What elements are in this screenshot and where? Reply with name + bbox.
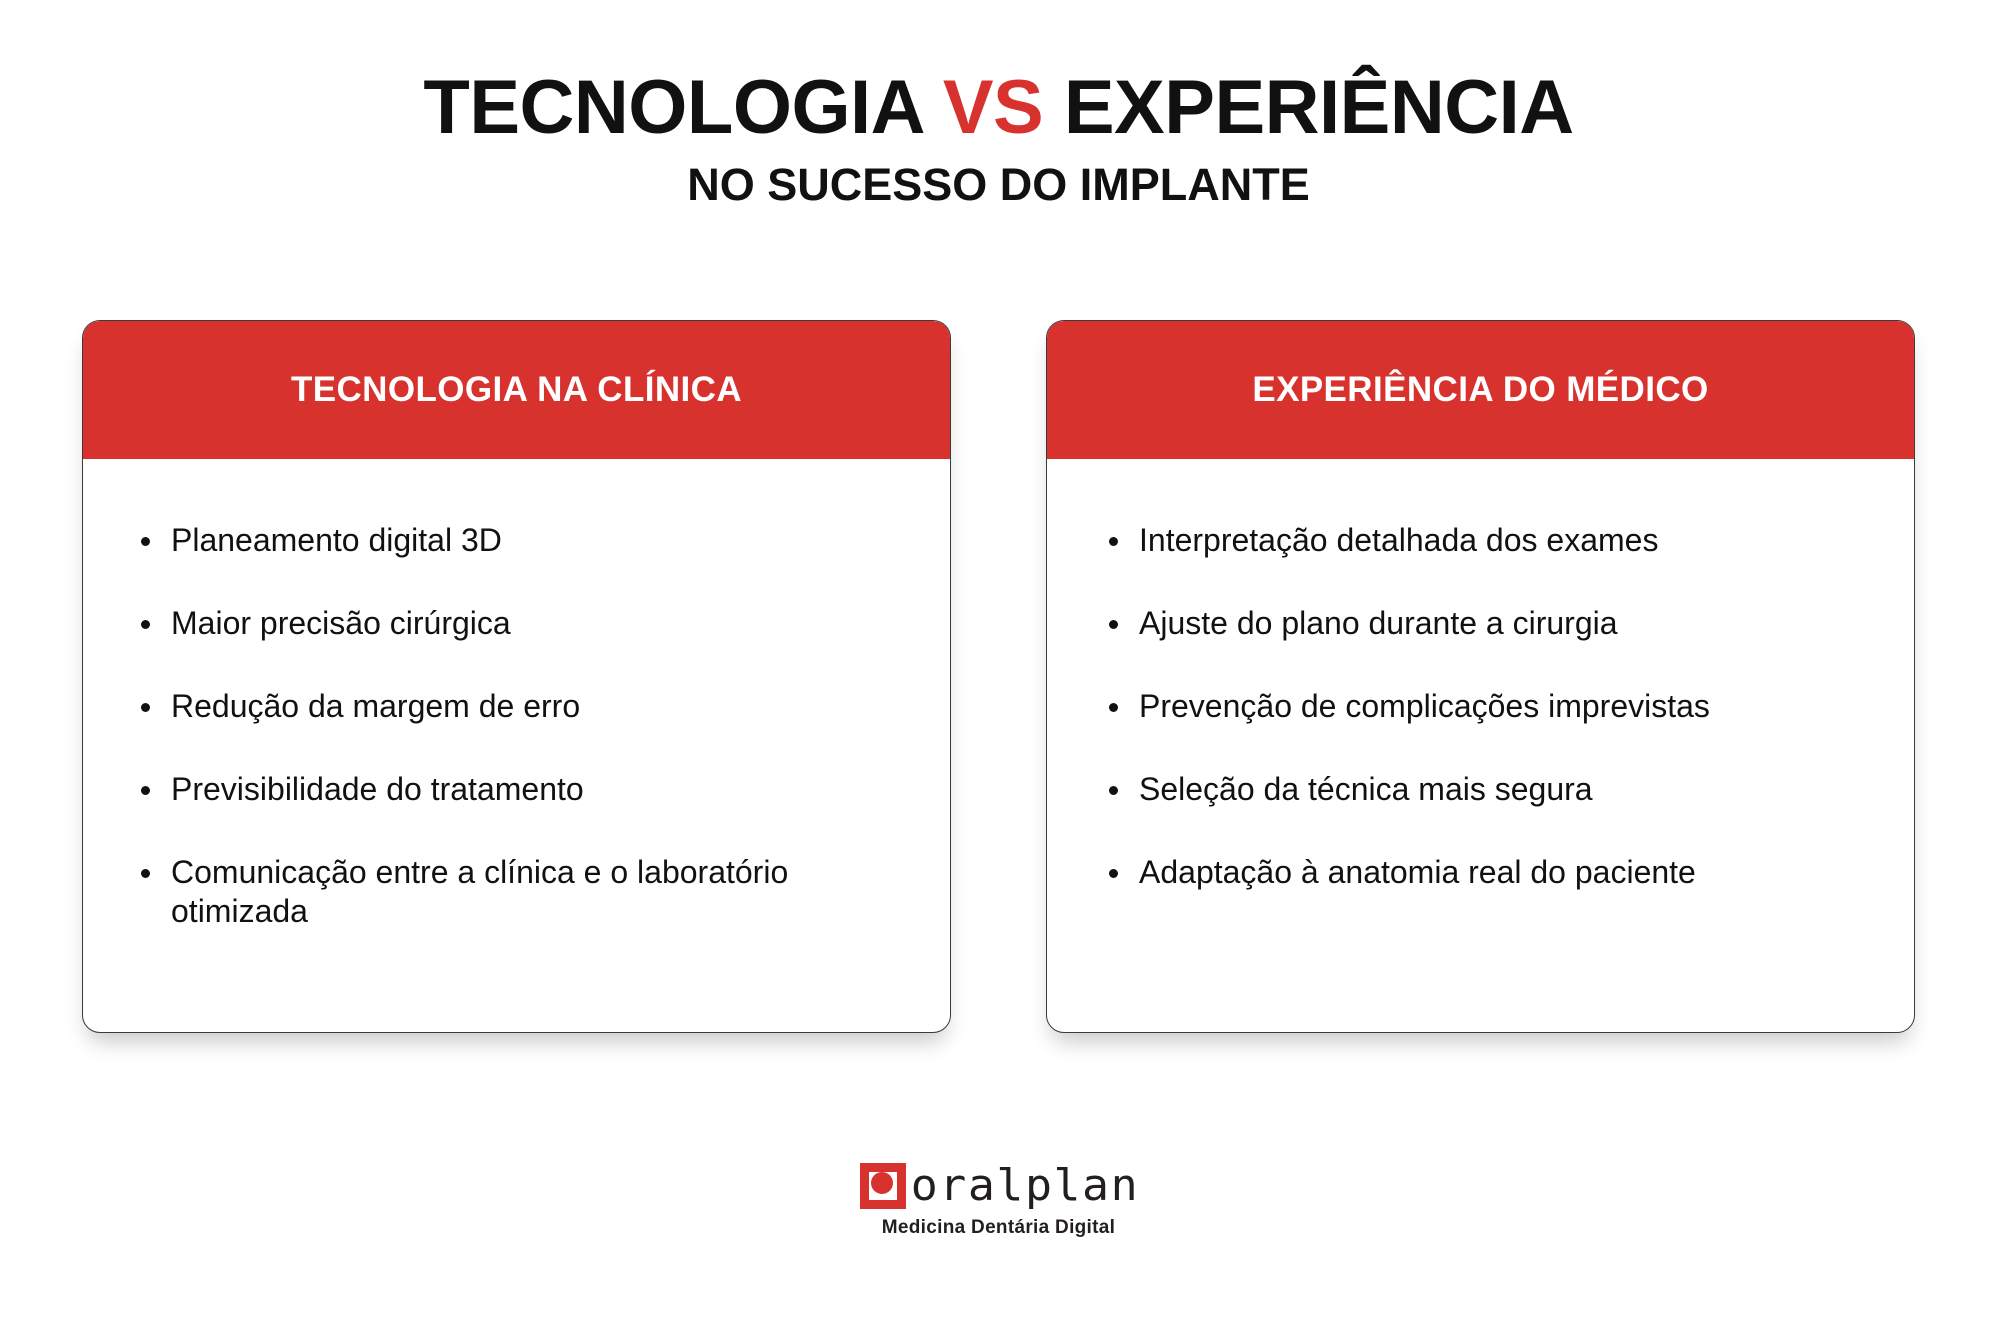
bullet-dot-icon xyxy=(141,537,150,546)
list-item: Maior precisão cirúrgica xyxy=(127,604,906,643)
card-tecnologia: TECNOLOGIA NA CLÍNICA Planeamento digita… xyxy=(82,320,951,1033)
card-experiencia-body: Interpretação detalhada dos exames Ajust… xyxy=(1047,459,1914,1032)
infographic-page: TECNOLOGIA VS EXPERIÊNCIA NO SUCESSO DO … xyxy=(0,0,1997,1321)
card-tecnologia-body: Planeamento digital 3D Maior precisão ci… xyxy=(83,459,950,1032)
bullet-dot-icon xyxy=(141,703,150,712)
list-item-label: Redução da margem de erro xyxy=(171,688,580,724)
card-experiencia-title: EXPERIÊNCIA DO MÉDICO xyxy=(1252,370,1708,410)
experiencia-bullet-list: Interpretação detalhada dos exames Ajust… xyxy=(1095,521,1870,892)
title-part-tecnologia: TECNOLOGIA xyxy=(423,65,942,150)
list-item: Adaptação à anatomia real do paciente xyxy=(1095,853,1870,892)
list-item-label: Maior precisão cirúrgica xyxy=(171,605,511,641)
list-item: Redução da margem de erro xyxy=(127,687,906,726)
list-item: Seleção da técnica mais segura xyxy=(1095,770,1870,809)
list-item-label: Comunicação entre a clínica e o laborató… xyxy=(171,854,788,929)
card-experiencia: EXPERIÊNCIA DO MÉDICO Interpretação deta… xyxy=(1046,320,1915,1033)
bullet-dot-icon xyxy=(1109,620,1118,629)
list-item: Planeamento digital 3D xyxy=(127,521,906,560)
logo-row: oralplan xyxy=(860,1163,1137,1209)
bullet-dot-icon xyxy=(141,786,150,795)
bullet-dot-icon xyxy=(1109,786,1118,795)
list-item-label: Planeamento digital 3D xyxy=(171,522,502,558)
page-title: TECNOLOGIA VS EXPERIÊNCIA xyxy=(0,68,1997,148)
list-item-label: Prevenção de complicações imprevistas xyxy=(1139,688,1710,724)
comparison-cards: TECNOLOGIA NA CLÍNICA Planeamento digita… xyxy=(82,320,1915,1033)
footer-branding: oralplan Medicina Dentária Digital xyxy=(0,1163,1997,1239)
card-tecnologia-title: TECNOLOGIA NA CLÍNICA xyxy=(291,370,742,410)
list-item: Comunicação entre a clínica e o laborató… xyxy=(127,853,906,931)
bullet-dot-icon xyxy=(141,869,150,878)
page-subtitle: NO SUCESSO DO IMPLANTE xyxy=(0,160,1997,210)
logo-tagline: Medicina Dentária Digital xyxy=(882,1217,1115,1239)
list-item: Previsibilidade do tratamento xyxy=(127,770,906,809)
list-item-label: Interpretação detalhada dos exames xyxy=(1139,522,1658,558)
list-item: Prevenção de complicações imprevistas xyxy=(1095,687,1870,726)
card-experiencia-header: EXPERIÊNCIA DO MÉDICO xyxy=(1047,321,1914,459)
list-item-label: Seleção da técnica mais segura xyxy=(1139,771,1593,807)
bullet-dot-icon xyxy=(141,620,150,629)
bullet-dot-icon xyxy=(1109,703,1118,712)
title-part-experiencia: EXPERIÊNCIA xyxy=(1043,65,1573,150)
list-item-label: Ajuste do plano durante a cirurgia xyxy=(1139,605,1618,641)
logo-wordmark: oralplan xyxy=(911,1164,1139,1208)
title-block: TECNOLOGIA VS EXPERIÊNCIA NO SUCESSO DO … xyxy=(0,68,1997,209)
bullet-dot-icon xyxy=(1109,869,1118,878)
title-vs: VS xyxy=(943,65,1043,150)
oralplan-square-dot-logo-icon xyxy=(860,1163,906,1209)
bullet-dot-icon xyxy=(1109,537,1118,546)
logo-dot-shape xyxy=(871,1172,893,1194)
tecnologia-bullet-list: Planeamento digital 3D Maior precisão ci… xyxy=(127,521,906,931)
card-tecnologia-header: TECNOLOGIA NA CLÍNICA xyxy=(83,321,950,459)
list-item: Interpretação detalhada dos exames xyxy=(1095,521,1870,560)
list-item-label: Adaptação à anatomia real do paciente xyxy=(1139,854,1696,890)
list-item-label: Previsibilidade do tratamento xyxy=(171,771,584,807)
list-item: Ajuste do plano durante a cirurgia xyxy=(1095,604,1870,643)
